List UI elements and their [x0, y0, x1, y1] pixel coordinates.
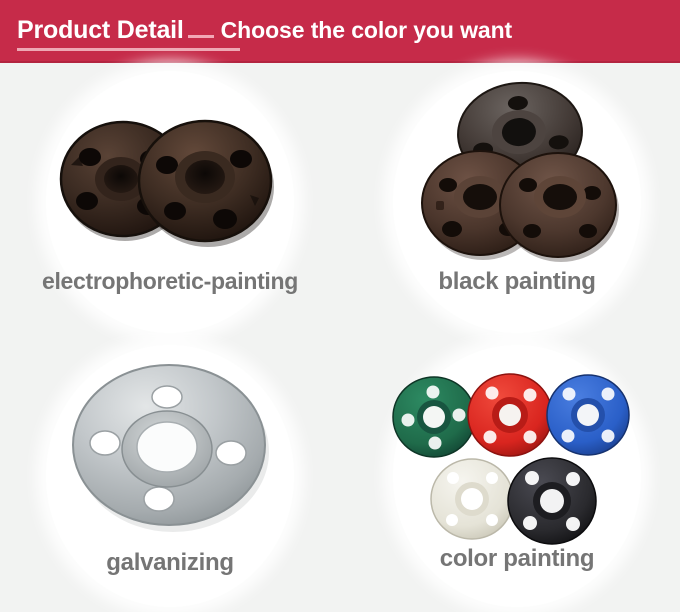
finish-options-grid: electrophoretic-painting: [0, 63, 680, 612]
flange-pair-icon: [45, 81, 295, 271]
page-subtitle: Choose the color you want: [221, 16, 512, 44]
finish-label: black painting: [340, 268, 680, 296]
finish-card-black-painting[interactable]: black painting: [340, 63, 680, 337]
flange-trio-icon: [392, 81, 642, 271]
finish-label: color painting: [340, 545, 680, 573]
section-header-banner: Product Detail Choose the color you want: [0, 0, 680, 63]
flange-single-icon: [45, 355, 295, 545]
finish-card-electrophoretic-painting[interactable]: electrophoretic-painting: [0, 63, 340, 337]
finish-label: electrophoretic-painting: [0, 268, 340, 295]
title-separator-dash: [188, 35, 214, 38]
product-detail-page: Product Detail Choose the color you want: [0, 0, 680, 612]
finish-card-color-painting[interactable]: color painting: [340, 337, 680, 611]
finish-card-galvanizing[interactable]: galvanizing: [0, 337, 340, 611]
page-title: Product Detail: [17, 16, 184, 44]
finish-label: galvanizing: [0, 549, 340, 577]
title-underline: [17, 48, 240, 51]
header-title-group: Product Detail Choose the color you want: [17, 16, 512, 44]
flange-color-set-icon: [392, 355, 642, 545]
